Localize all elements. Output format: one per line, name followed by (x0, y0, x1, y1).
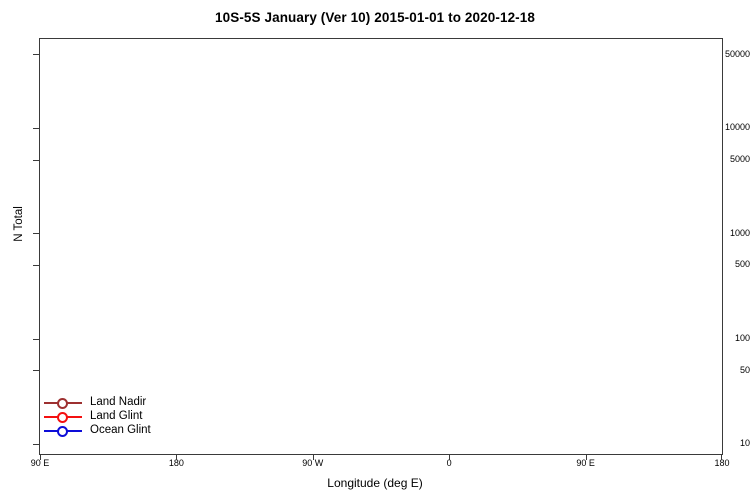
x-tick-label: 90 E (10, 459, 70, 468)
x-tick-label: 180 (692, 459, 750, 468)
x-tick-mark (176, 455, 177, 460)
x-tick-label: 180 (146, 459, 206, 468)
x-tick-mark (449, 455, 450, 460)
x-tick-label: 0 (419, 459, 479, 468)
legend: Land NadirLand GlintOcean Glint (44, 396, 172, 438)
legend-label: Land Nadir (90, 396, 146, 408)
legend-marker-icon (57, 398, 68, 409)
x-axis-title: Longitude (deg E) (0, 476, 750, 490)
legend-item-nadir[interactable]: Land Nadir (44, 396, 172, 410)
legend-marker-icon (57, 426, 68, 437)
x-tick-mark (40, 455, 41, 460)
legend-item-glint[interactable]: Land Glint (44, 410, 172, 424)
plot-frame (39, 38, 723, 455)
legend-marker-icon (57, 412, 68, 423)
x-tick-mark (721, 455, 722, 460)
page-title: 10S-5S January (Ver 10) 2015-01-01 to 20… (0, 10, 750, 25)
x-tick-label: 90 W (283, 459, 343, 468)
x-tick-label: 90 E (556, 459, 616, 468)
y-axis-title: N Total (13, 179, 25, 269)
legend-label: Land Glint (90, 410, 142, 422)
legend-label: Ocean Glint (90, 424, 151, 436)
x-tick-mark (313, 455, 314, 460)
legend-item-ocean[interactable]: Ocean Glint (44, 424, 172, 438)
scatter-plot-figure: 10S-5S January (Ver 10) 2015-01-01 to 20… (0, 0, 750, 500)
x-tick-mark (586, 455, 587, 460)
